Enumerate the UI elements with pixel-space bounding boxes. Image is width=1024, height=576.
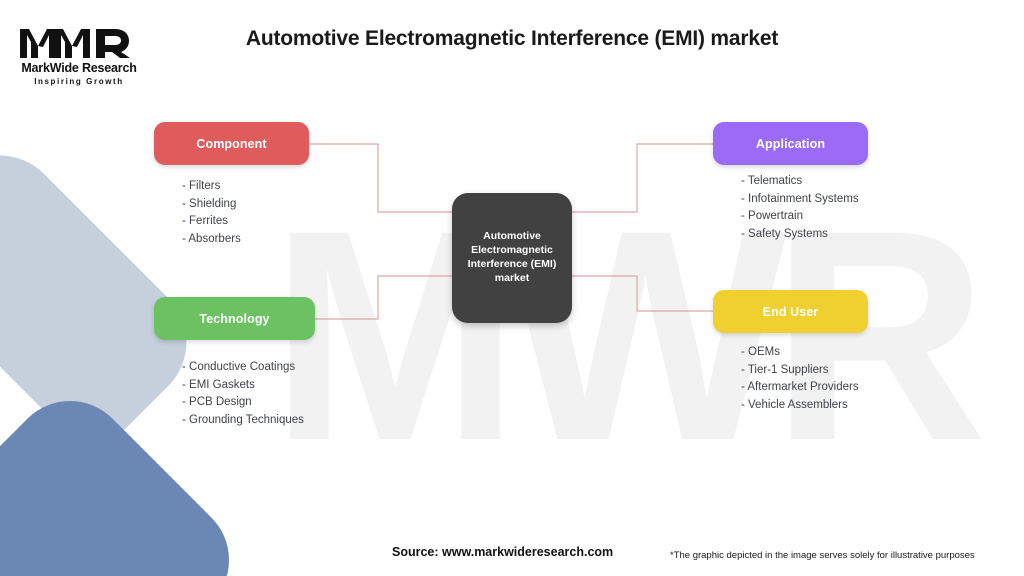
diagram-canvas: MWR MarkWide Research Inspiring Growth A… xyxy=(0,0,1024,576)
list-item: - Absorbers xyxy=(182,231,241,249)
list-item: - Infotainment Systems xyxy=(741,191,859,209)
connector-application xyxy=(572,144,713,212)
list-item: - OEMs xyxy=(741,344,859,362)
list-item: - Conductive Coatings xyxy=(182,359,304,377)
list-item: - Grounding Techniques xyxy=(182,412,304,430)
items-component: - Filters - Shielding - Ferrites - Absor… xyxy=(182,178,241,248)
node-technology-label: Technology xyxy=(199,312,269,326)
node-component[interactable]: Component xyxy=(154,122,309,165)
list-item: - Shielding xyxy=(182,196,241,214)
list-item: - Powertrain xyxy=(741,208,859,226)
node-end-user-label: End User xyxy=(763,305,819,319)
list-item: - Aftermarket Providers xyxy=(741,379,859,397)
node-application[interactable]: Application xyxy=(713,122,868,165)
node-technology[interactable]: Technology xyxy=(154,297,315,340)
list-item: - Filters xyxy=(182,178,241,196)
connector-technology xyxy=(315,276,452,319)
node-application-label: Application xyxy=(756,137,825,151)
connector-end-user xyxy=(572,276,713,311)
items-end-user: - OEMs - Tier-1 Suppliers - Aftermarket … xyxy=(741,344,859,414)
list-item: - Telematics xyxy=(741,173,859,191)
list-item: - EMI Gaskets xyxy=(182,377,304,395)
items-technology: - Conductive Coatings - EMI Gaskets - PC… xyxy=(182,359,304,429)
center-node[interactable]: Automotive Electromagnetic Interference … xyxy=(452,193,572,323)
list-item: - Tier-1 Suppliers xyxy=(741,362,859,380)
list-item: - PCB Design xyxy=(182,394,304,412)
node-end-user[interactable]: End User xyxy=(713,290,868,333)
items-application: - Telematics - Infotainment Systems - Po… xyxy=(741,173,859,243)
source-label: Source: www.markwideresearch.com xyxy=(392,545,613,559)
node-component-label: Component xyxy=(196,137,266,151)
list-item: - Safety Systems xyxy=(741,226,859,244)
connector-component xyxy=(309,144,452,212)
disclaimer-text: *The graphic depicted in the image serve… xyxy=(670,550,975,561)
list-item: - Vehicle Assemblers xyxy=(741,397,859,415)
center-node-label: Automotive Electromagnetic Interference … xyxy=(452,230,572,286)
list-item: - Ferrites xyxy=(182,213,241,231)
